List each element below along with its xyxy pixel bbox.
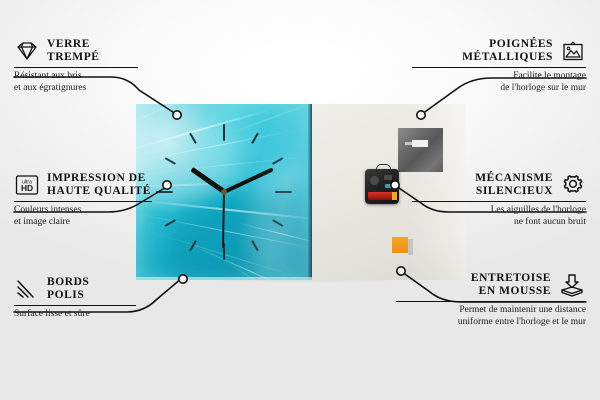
callout-description: Facilite le montage de l'horloge sur le … [412,71,586,94]
callout-header: ENTRETOISE EN MOUSSE [396,272,586,298]
callout-title: VERRE TREMPÉ [47,38,100,64]
callout-header: BORDS POLIS [14,276,164,302]
callout-poignees-metalliques[interactable]: POIGNÉES MÉTALLIQUES Facilite le montage… [412,38,586,94]
callout-rule [412,67,586,68]
callout-rule [14,67,138,68]
diamond-icon [14,41,40,61]
callout-header: VERRE TREMPÉ [14,38,174,64]
clock-tick [223,124,225,141]
infographic-canvas: VERRE TREMPÉ Résistant aux bris et aux é… [0,0,600,400]
callout-description: Résistant aux bris et aux égratignures [14,71,174,94]
callout-mecanisme-silencieux[interactable]: MÉCANISME SILENCIEUX Les aiguilles de l'… [412,172,586,228]
callout-description: Surface lisse et sûre [14,309,164,321]
callout-title: MÉCANISME SILENCIEUX [475,172,553,198]
hanger-slot [412,140,428,147]
metal-hanger [398,128,443,172]
foam-spacer-shadow [408,239,413,255]
callout-header: MÉCANISME SILENCIEUX [412,172,586,198]
callout-rule [396,301,586,302]
callout-title: BORDS POLIS [47,276,89,302]
gear-icon [560,174,586,196]
svg-text:HD: HD [21,183,33,193]
battery-terminal [392,192,397,200]
clock-center-cap [221,189,227,195]
callout-description: Permet de maintenir une distance uniform… [396,305,586,328]
callout-title: IMPRESSION DE HAUTE QUALITÉ [47,172,151,198]
callout-description: Couleurs intenses et image claire [14,205,184,228]
callout-rule [14,305,136,306]
callout-impression-haute-qualite[interactable]: ultra HD IMPRESSION DE HAUTE QUALITÉ Cou… [14,172,184,228]
polished-edge-icon [14,278,40,300]
quartz-mechanism [365,169,399,204]
battery [368,192,395,200]
callout-title: POIGNÉES MÉTALLIQUES [462,38,553,64]
callout-verre-trempe[interactable]: VERRE TREMPÉ Résistant aux bris et aux é… [14,38,174,94]
clock-tick [275,191,292,193]
callout-header: ultra HD IMPRESSION DE HAUTE QUALITÉ [14,172,184,198]
callout-description: Les aiguilles de l'horloge ne font aucun… [412,205,586,228]
mechanism-loop [376,164,391,173]
callout-entretoise-en-mousse[interactable]: ENTRETOISE EN MOUSSE Permet de maintenir… [396,272,586,328]
picture-frame-icon [560,40,586,62]
callout-bords-polis[interactable]: BORDS POLIS Surface lisse et sûre [14,276,164,321]
foam-spacer-icon [558,273,586,297]
callout-rule [14,201,152,202]
callout-header: POIGNÉES MÉTALLIQUES [412,38,586,64]
callout-title: ENTRETOISE EN MOUSSE [471,272,551,298]
ultra-hd-icon: ultra HD [14,174,40,196]
callout-rule [412,201,586,202]
foam-spacer [392,237,408,253]
